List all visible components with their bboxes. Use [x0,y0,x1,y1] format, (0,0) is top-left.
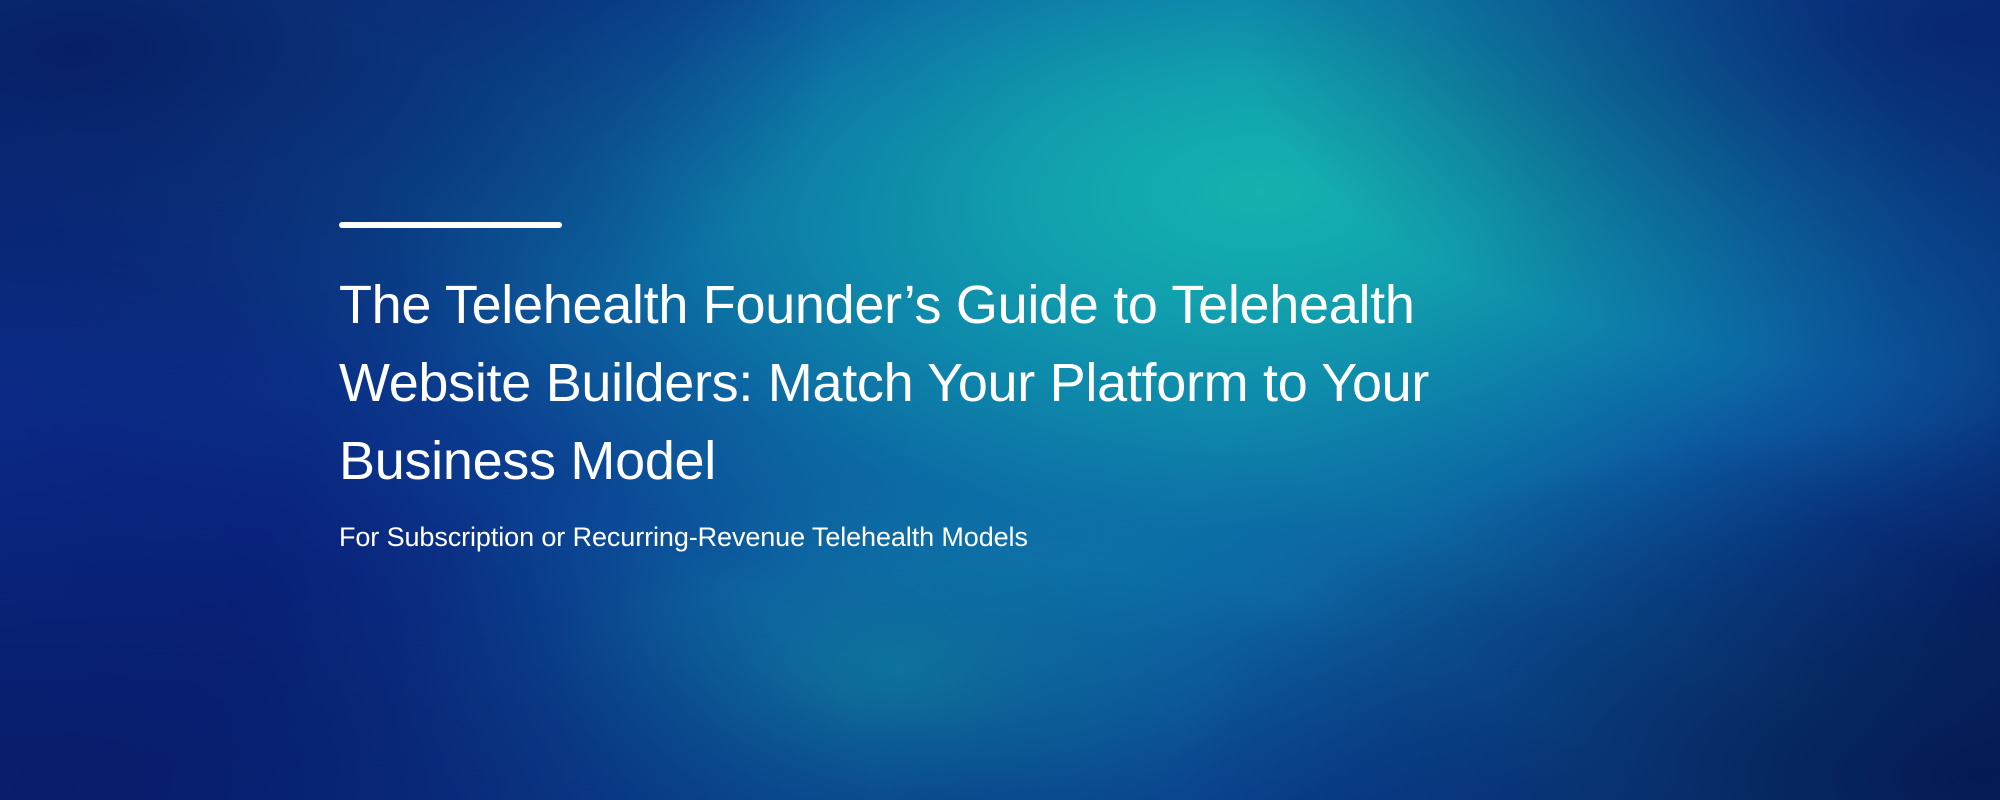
accent-rule [339,222,562,228]
hero-content: The Telehealth Founder’s Guide to Telehe… [339,222,1579,555]
hero-banner: The Telehealth Founder’s Guide to Telehe… [0,0,2000,800]
page-title: The Telehealth Founder’s Guide to Telehe… [339,266,1579,500]
page-subtitle: For Subscription or Recurring-Revenue Te… [339,519,1579,555]
